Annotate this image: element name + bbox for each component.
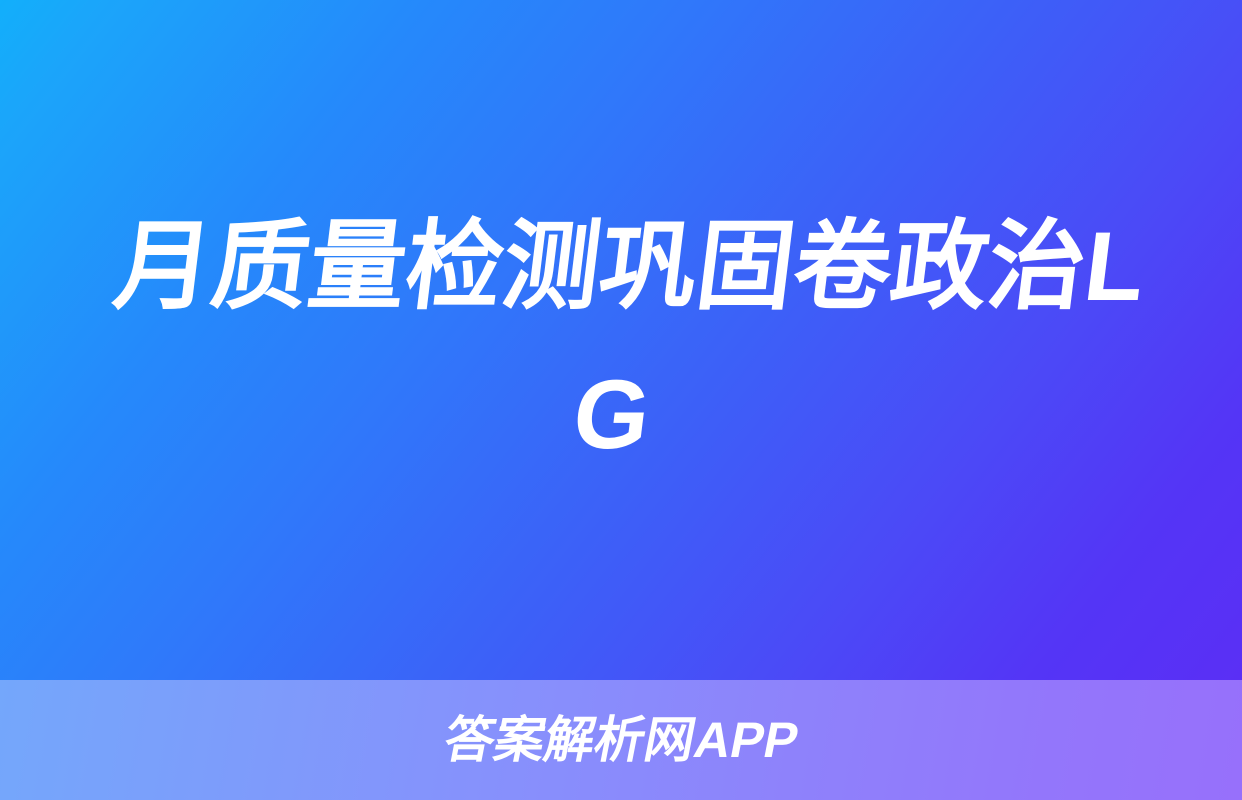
watermark-bar: 答案解析网APP (0, 680, 1242, 800)
page-title-line-2: 月质量检测巩固卷政治LG (68, 192, 1174, 488)
hero-gradient-panel: 九师联盟 2024届高三1 月质量检测巩固卷政治LG 答案 (0, 0, 1242, 680)
watermark-label: 答案解析网APP (439, 712, 803, 768)
poster-canvas: 九师联盟 2024届高三1 月质量检测巩固卷政治LG 答案 答案解析网APP (0, 0, 1242, 800)
